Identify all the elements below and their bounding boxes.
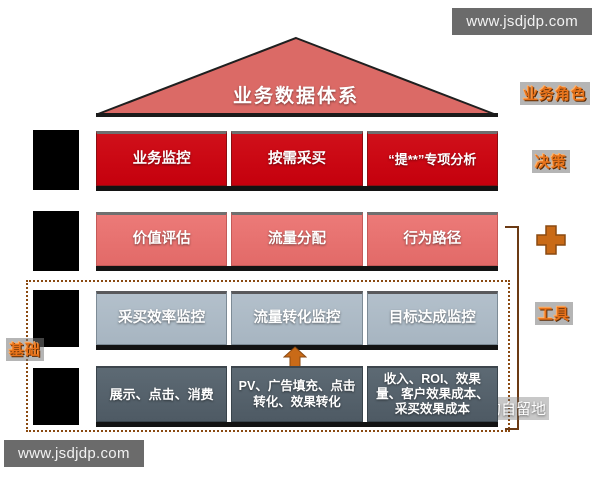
cell-tools-1[interactable]: 采买效率监控 [96,291,227,345]
cell-base-1[interactable]: 展示、点击、消费 [96,366,227,422]
cell-decision-1[interactable]: 业务监控 [96,131,227,186]
roof-triangle-icon [96,36,496,116]
watermark-bottom-left: www.jsdjdp.com [4,440,144,467]
plus-icon [535,224,567,256]
cell-tools-3[interactable]: 目标达成监控 [367,291,498,345]
redaction-block-4 [33,368,79,425]
side-label-tools: 工具 [535,302,573,325]
cell-decision-2[interactable]: 按需采买 [231,131,362,186]
cell-analysis-2[interactable]: 流量分配 [231,212,362,266]
watermark-top-right: www.jsdjdp.com [452,8,592,35]
cell-base-3[interactable]: 收入、ROI、效果量、客户效果成本、采买效果成本 [367,366,498,422]
redaction-block-2 [33,211,79,271]
roof-shape: 业务数据体系 [96,36,496,116]
row-decision: 业务监控 按需采买 “提**”专项分析 [96,131,498,186]
row-analysis: 价值评估 流量分配 行为路径 [96,212,498,266]
cell-analysis-3[interactable]: 行为路径 [367,212,498,266]
cell-analysis-1[interactable]: 价值评估 [96,212,227,266]
diagram-canvas: 业务数据体系 业务监控 按需采买 “提**”专项分析 价值评估 流量分配 行为路… [0,0,600,480]
side-label-base: 基础 [6,338,44,361]
row-tools: 采买效率监控 流量转化监控 目标达成监控 [96,291,498,345]
cell-base-2[interactable]: PV、广告填充、点击转化、效果转化 [231,366,362,422]
side-label-business-role: 业务角色 [520,82,590,105]
redaction-block-1 [33,130,79,190]
cell-tools-2[interactable]: 流量转化监控 [231,291,362,345]
side-label-decision: 决策 [532,150,570,173]
cell-decision-3[interactable]: “提**”专项分析 [367,131,498,186]
row-base-metrics: 展示、点击、消费 PV、广告填充、点击转化、效果转化 收入、ROI、效果量、客户… [96,366,498,422]
roof-base-bar [96,113,498,117]
